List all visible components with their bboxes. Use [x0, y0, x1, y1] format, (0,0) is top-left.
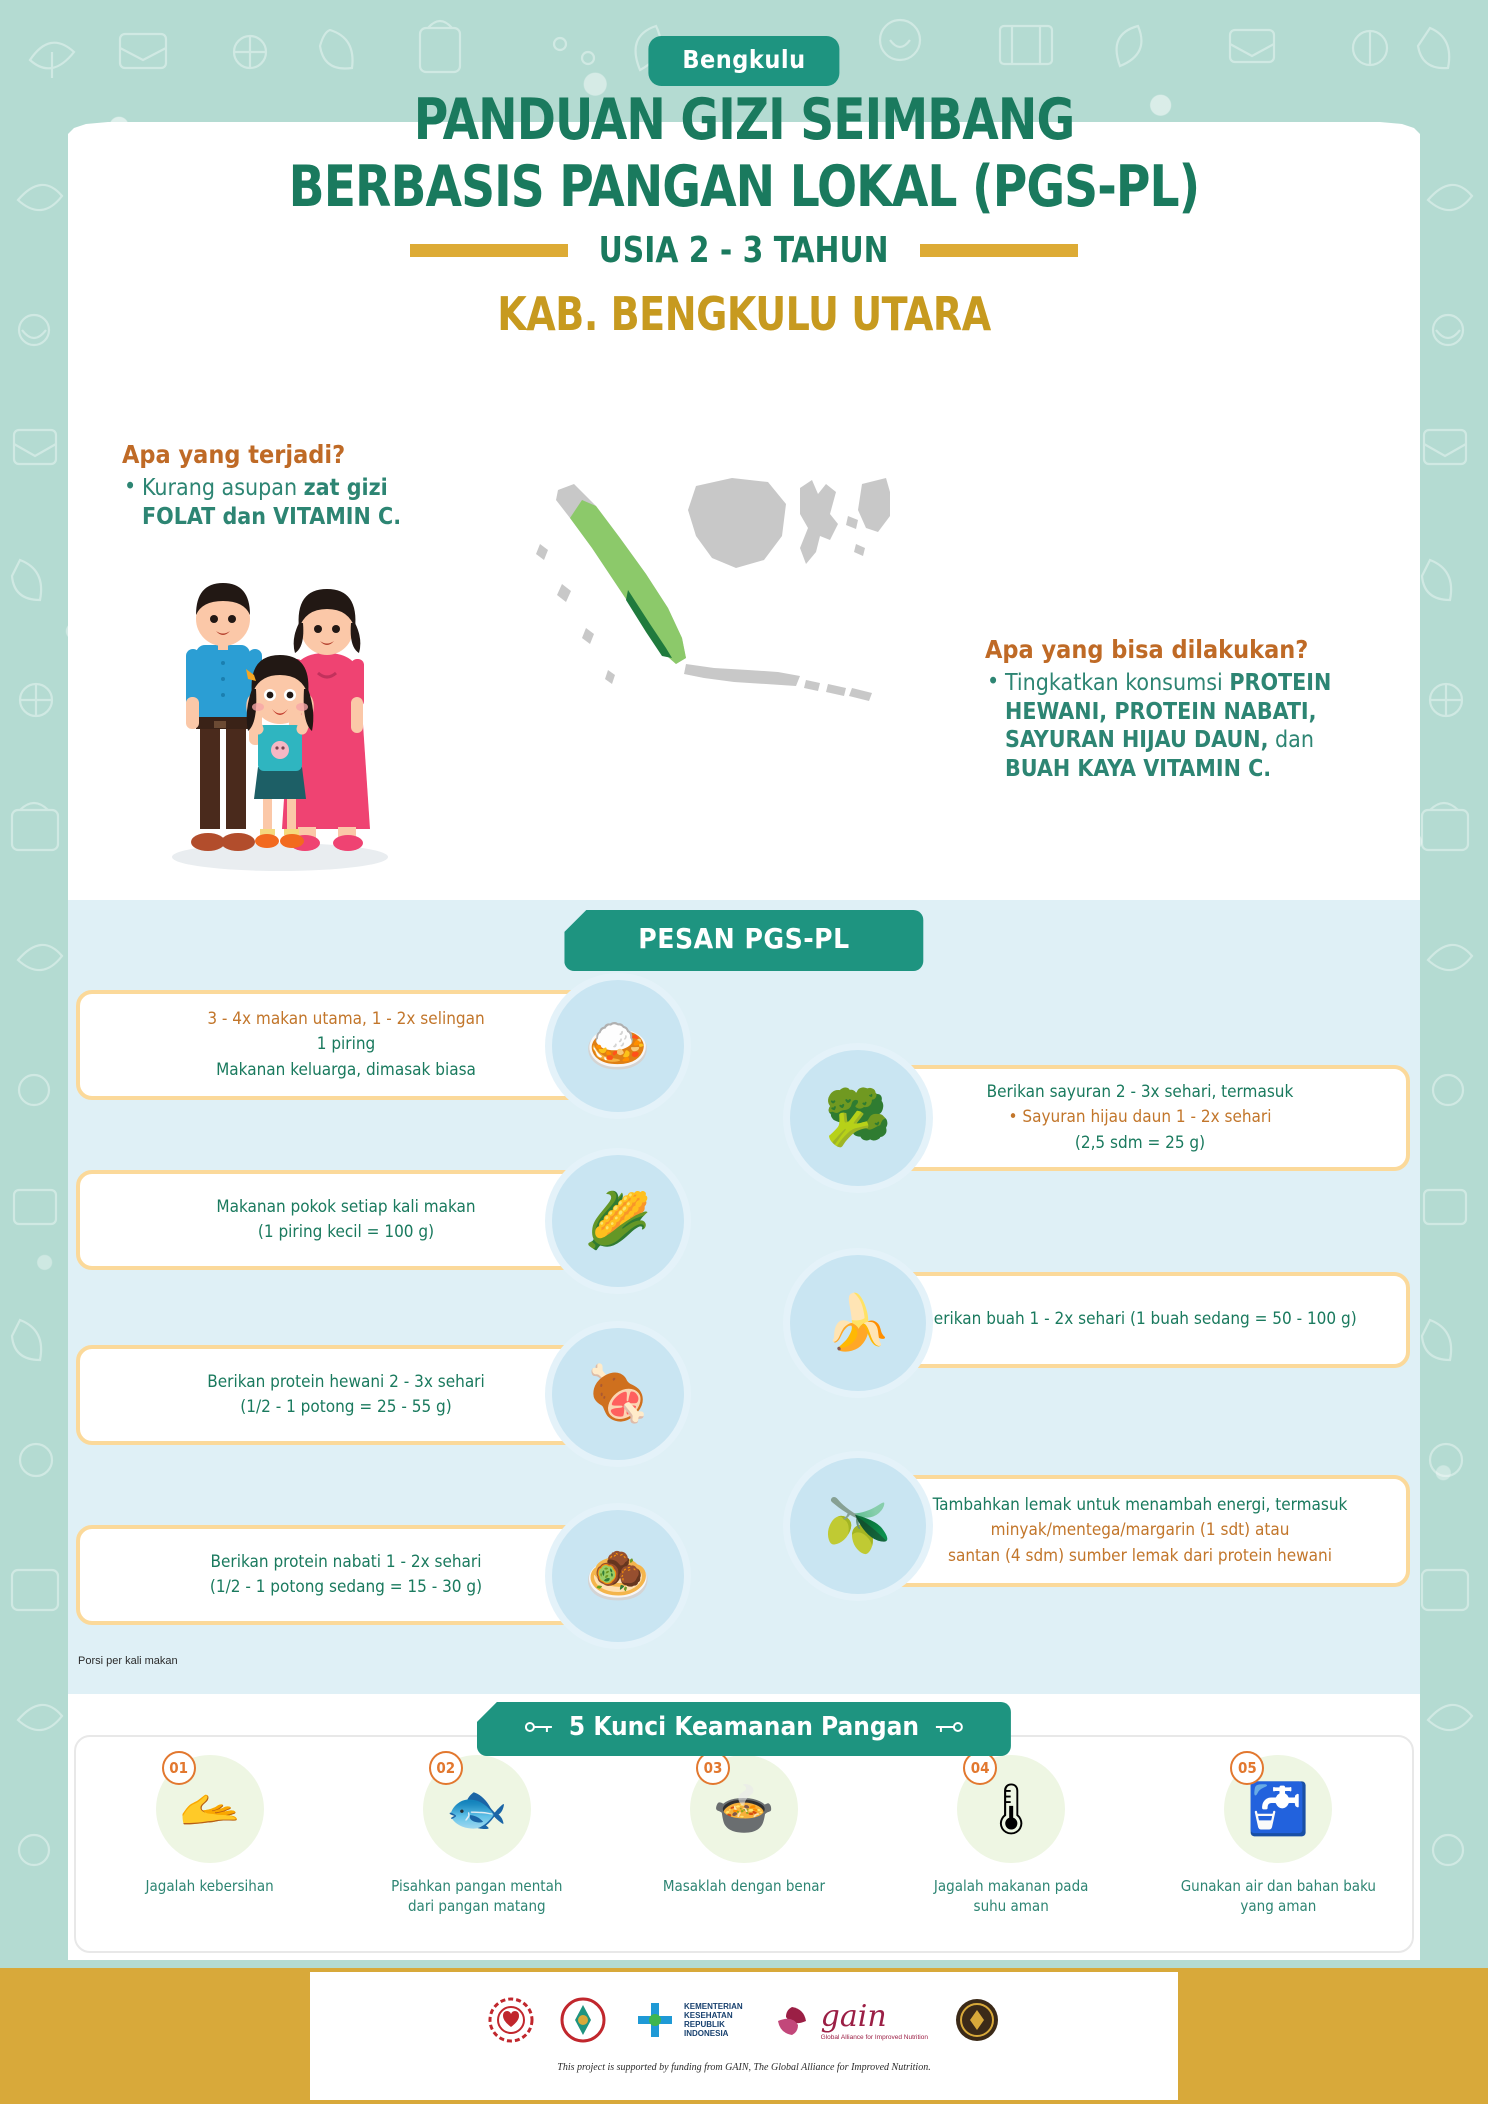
plate-fats-oil-emoji: 🫒 — [824, 1499, 891, 1553]
solution-text-bold-2: HEWANI, PROTEIN NABATI, — [1005, 699, 1317, 725]
logo-gain: gain Global Alliance for Improved Nutrit… — [769, 1997, 928, 2043]
kunci-label: Pisahkan pangan mentah dari pangan matan… — [352, 1877, 602, 1916]
plate-rice-egg-icon: 🍛 — [552, 980, 684, 1112]
card-text: Tambahkan lemak untuk menambah energi, t… — [874, 1493, 1406, 1570]
logo-pkk — [560, 1997, 606, 2043]
gain-label: gain — [821, 1999, 928, 2034]
divider-left — [410, 244, 568, 257]
card-line: • Sayuran hijau daun 1 - 2x sehari — [890, 1105, 1390, 1131]
pkk-logo-icon — [560, 1997, 606, 2043]
plate-staple-food-emoji: 🌽 — [584, 1194, 651, 1248]
card-text: Berikan protein nabati 1 - 2x sehari (1/… — [80, 1550, 612, 1601]
kunci-item-2: 🐟 02 Pisahkan pangan mentah dari pangan … — [352, 1755, 602, 1916]
plate-animal-protein-icon: 🍖 — [552, 1328, 684, 1460]
problem-block: Apa yang terjadi? Kurang asupan zat gizi… — [122, 440, 432, 531]
age-row: USIA 2 - 3 TAHUN — [0, 230, 1488, 271]
message-card-left-1: 3 - 4x makan utama, 1 - 2x selingan 1 pi… — [76, 990, 616, 1100]
solution-text-bold-4: BUAH KAYA VITAMIN C. — [1005, 756, 1271, 782]
problem-bullet: Kurang asupan zat gizi FOLAT dan VITAMIN… — [122, 474, 432, 531]
divider-right — [920, 244, 1078, 257]
card-text: Berikan protein hewani 2 - 3x sehari (1/… — [80, 1370, 612, 1421]
pesan-banner: PESAN PGS-PL — [564, 910, 923, 971]
solution-block: Apa yang bisa dilakukan? Tingkatkan kons… — [985, 635, 1355, 783]
card-line: Makanan keluarga, dimasak biasa — [96, 1058, 596, 1084]
card-text: 3 - 4x makan utama, 1 - 2x selingan 1 pi… — [80, 1007, 612, 1084]
plate-staple-food-icon: 🌽 — [552, 1155, 684, 1287]
plate-vegetables-emoji: 🥦 — [824, 1091, 891, 1145]
problem-text-bold-1: zat gizi — [304, 475, 388, 501]
porsi-caption: Porsi per kali makan — [78, 1655, 178, 1667]
footer-logos: KEMENTERIAN KESEHATAN REPUBLIK INDONESIA… — [310, 1984, 1178, 2056]
card-line: 1 piring — [96, 1032, 596, 1058]
kunci-label: Gunakan air dan bahan baku yang aman — [1153, 1877, 1403, 1916]
plate-fruits-icon: 🍌 — [790, 1255, 926, 1391]
card-line: minyak/mentega/margarin (1 sdt) atau — [890, 1518, 1390, 1544]
page-title-line2: BERBASIS PANGAN LOKAL (PGS-PL) — [60, 159, 1429, 216]
solution-text-bold-1: PROTEIN — [1229, 670, 1331, 696]
family-illustration — [130, 545, 430, 875]
indonesia-map — [500, 432, 890, 762]
kunci-item-4: 🌡 04 Jagalah makanan pada suhu aman — [886, 1755, 1136, 1916]
plate-animal-protein-emoji: 🍖 — [584, 1367, 651, 1421]
kunci-number: 01 — [162, 1751, 196, 1785]
problem-heading: Apa yang terjadi? — [122, 440, 432, 469]
kunci-label: Jagalah kebersihan — [85, 1877, 335, 1897]
plate-fats-oil-icon: 🫒 — [790, 1458, 926, 1594]
safe-water-emoji: 🚰 — [1247, 1784, 1309, 1834]
region-name: KAB. BENGKULU UTARA — [60, 287, 1429, 341]
card-line: Makanan pokok setiap kali makan — [96, 1195, 596, 1221]
problem-text-bold-2: FOLAT dan VITAMIN C. — [142, 504, 401, 530]
cooking-pot-emoji: 🍲 — [713, 1784, 775, 1834]
age-range: USIA 2 - 3 TAHUN — [599, 230, 889, 271]
solution-text-2: dan — [1268, 727, 1314, 753]
gain-mark-icon — [769, 1997, 815, 2043]
kunci-number: 05 — [1230, 1751, 1264, 1785]
malang-logo-icon — [954, 1997, 1000, 2043]
card-line: Berikan protein hewani 2 - 3x sehari — [96, 1370, 596, 1396]
card-line: Berikan sayuran 2 - 3x sehari, termasuk — [890, 1080, 1390, 1106]
message-card-left-4: Berikan protein nabati 1 - 2x sehari (1/… — [76, 1525, 616, 1625]
kemenkes-logo-icon — [632, 1997, 678, 2043]
solution-heading: Apa yang bisa dilakukan? — [985, 635, 1355, 664]
plate-rice-egg-emoji: 🍛 — [584, 1019, 651, 1073]
gain-sublabel: Global Alliance for Improved Nutrition — [821, 2034, 928, 2041]
kunci-number: 02 — [429, 1751, 463, 1785]
plate-plant-protein-emoji: 🧆 — [584, 1549, 651, 1603]
logo-malang — [954, 1997, 1000, 2043]
kunci-number: 04 — [963, 1751, 997, 1785]
kunci-label: Masaklah dengan benar — [619, 1877, 869, 1897]
message-card-right-1: Berikan sayuran 2 - 3x sehari, termasuk … — [870, 1065, 1410, 1171]
thermometer-emoji: 🌡 — [979, 1784, 1042, 1834]
card-line: Tambahkan lemak untuk menambah energi, t… — [890, 1493, 1390, 1519]
separate-raw-cooked-emoji: 🐟 — [446, 1784, 508, 1834]
safe-water-icon: 🚰 05 — [1224, 1755, 1332, 1863]
message-card-left-3: Berikan protein hewani 2 - 3x sehari (1/… — [76, 1345, 616, 1445]
province-badge: Bengkulu — [648, 36, 839, 86]
solution-text-1: Tingkatkan konsumsi — [1005, 670, 1229, 696]
solution-text-bold-3: SAYURAN HIJAU DAUN, — [1005, 727, 1268, 753]
key-right-icon — [935, 1720, 963, 1734]
kunci-banner: 5 Kunci Keamanan Pangan — [477, 1702, 1011, 1756]
kunci-item-1: 🫴 01 Jagalah kebersihan — [85, 1755, 335, 1897]
card-text: Makanan pokok setiap kali makan (1 pirin… — [80, 1195, 612, 1246]
message-card-left-2: Makanan pokok setiap kali makan (1 pirin… — [76, 1170, 616, 1270]
card-line: santan (4 sdm) sumber lemak dari protein… — [890, 1544, 1390, 1570]
cooking-pot-icon: 🍲 03 — [690, 1755, 798, 1863]
kunci-item-5: 🚰 05 Gunakan air dan bahan baku yang ama… — [1153, 1755, 1403, 1916]
separate-raw-cooked-icon: 🐟 02 — [423, 1755, 531, 1863]
page-title-line1: PANDUAN GIZI SEIMBANG — [60, 92, 1429, 149]
sehati-logo-icon — [488, 1997, 534, 2043]
message-card-right-2: Berikan buah 1 - 2x sehari (1 buah sedan… — [870, 1272, 1410, 1368]
handwash-icon: 🫴 01 — [156, 1755, 264, 1863]
kemenkes-label: KEMENTERIAN KESEHATAN REPUBLIK INDONESIA — [684, 2002, 743, 2039]
thermometer-icon: 🌡 04 — [957, 1755, 1065, 1863]
kunci-number: 03 — [696, 1751, 730, 1785]
card-line: (1/2 - 1 potong = 25 - 55 g) — [96, 1395, 596, 1421]
card-text: Berikan sayuran 2 - 3x sehari, termasuk … — [874, 1080, 1406, 1157]
plate-plant-protein-icon: 🧆 — [552, 1510, 684, 1642]
footer-note: This project is supported by funding fro… — [0, 2062, 1488, 2073]
kunci-box: 🫴 01 Jagalah kebersihan 🐟 02 Pisahkan pa… — [74, 1735, 1414, 1953]
plate-fruits-emoji: 🍌 — [824, 1296, 891, 1350]
handwash-emoji: 🫴 — [178, 1784, 240, 1834]
key-left-icon — [525, 1720, 553, 1734]
card-line: (2,5 sdm = 25 g) — [890, 1131, 1390, 1157]
logo-kemenkes: KEMENTERIAN KESEHATAN REPUBLIK INDONESIA — [632, 1997, 743, 2043]
kunci-label: Jagalah makanan pada suhu aman — [886, 1877, 1136, 1916]
card-line: Berikan buah 1 - 2x sehari (1 buah sedan… — [890, 1307, 1390, 1333]
card-line: (1/2 - 1 potong sedang = 15 - 30 g) — [96, 1575, 596, 1601]
kunci-banner-label: 5 Kunci Keamanan Pangan — [569, 1712, 919, 1742]
card-line: Berikan protein nabati 1 - 2x sehari — [96, 1550, 596, 1576]
card-line: (1 piring kecil = 100 g) — [96, 1220, 596, 1246]
plate-vegetables-icon: 🥦 — [790, 1050, 926, 1186]
card-line: 3 - 4x makan utama, 1 - 2x selingan — [96, 1007, 596, 1033]
problem-text-1: Kurang asupan — [142, 475, 304, 501]
solution-bullet: Tingkatkan konsumsi PROTEIN HEWANI, PROT… — [985, 669, 1355, 783]
logo-sehati — [488, 1997, 534, 2043]
title-group: PANDUAN GIZI SEIMBANG BERBASIS PANGAN LO… — [0, 92, 1488, 341]
message-card-right-3: Tambahkan lemak untuk menambah energi, t… — [870, 1475, 1410, 1587]
kunci-item-3: 🍲 03 Masaklah dengan benar — [619, 1755, 869, 1897]
card-text: Berikan buah 1 - 2x sehari (1 buah sedan… — [874, 1307, 1406, 1333]
